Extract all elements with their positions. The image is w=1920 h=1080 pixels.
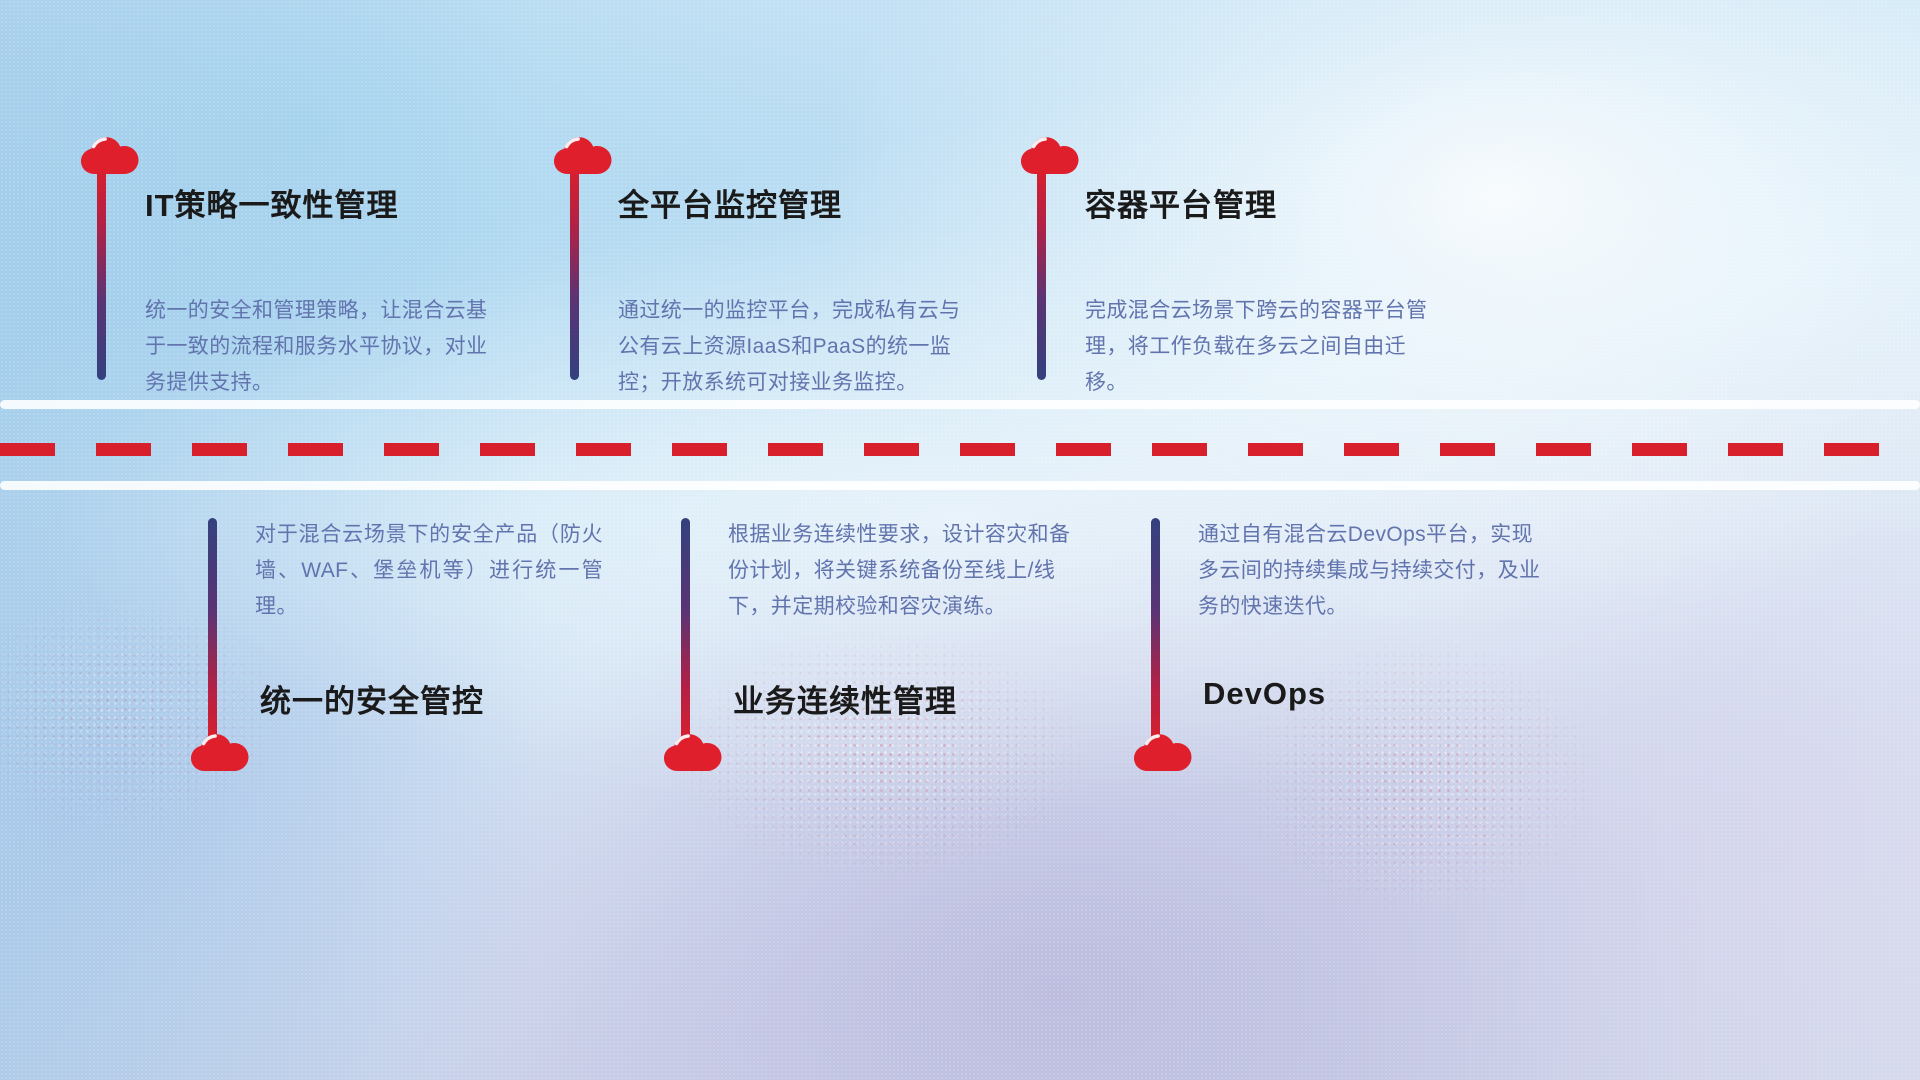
top-item-3-title: 容器平台管理 [1085,180,1277,225]
top-item-2-body: 通过统一的监控平台，完成私有云与公有云上资源IaaS和PaaS的统一监控；开放系… [618,293,980,401]
divider-dashed-line [0,443,1920,456]
bottom-item-3-title: DevOps [1203,676,1326,712]
bottom-item-2-body: 根据业务连续性要求，设计容灾和备份计划，将关键系统备份至线上/线下，并定期校验和… [728,517,1080,625]
connector-stem [208,518,217,740]
top-item-1-title: IT策略一致性管理 [145,180,399,225]
bottom-item-3-body: 通过自有混合云DevOps平台，实现多云间的持续集成与持续交付，及业务的快速迭代… [1198,517,1550,625]
cloud-icon [663,730,725,772]
divider-band-top [0,400,1920,409]
cloud-icon [190,730,252,772]
cloud-icon [80,133,142,175]
top-item-1-body: 统一的安全和管理策略，让混合云基于一致的流程和服务水平协议，对业务提供支持。 [145,293,505,401]
cloud-icon [1020,133,1082,175]
top-item-3-body: 完成混合云场景下跨云的容器平台管理，将工作负载在多云之间自由迁移。 [1085,293,1447,401]
top-item-2-title: 全平台监控管理 [618,180,842,225]
cloud-icon [553,133,615,175]
bottom-item-1-title: 统一的安全管控 [260,676,484,721]
divider-band-bottom [0,481,1920,490]
bottom-item-2-title: 业务连续性管理 [733,676,957,721]
connector-stem [97,170,106,380]
connector-stem [570,170,579,380]
bottom-item-1-body: 对于混合云场景下的安全产品（防火墙、WAF、堡垒机等）进行统一管理。 [255,517,603,625]
connector-stem [681,518,690,740]
cloud-icon [1133,730,1195,772]
connector-stem [1037,170,1046,380]
connector-stem [1151,518,1160,740]
